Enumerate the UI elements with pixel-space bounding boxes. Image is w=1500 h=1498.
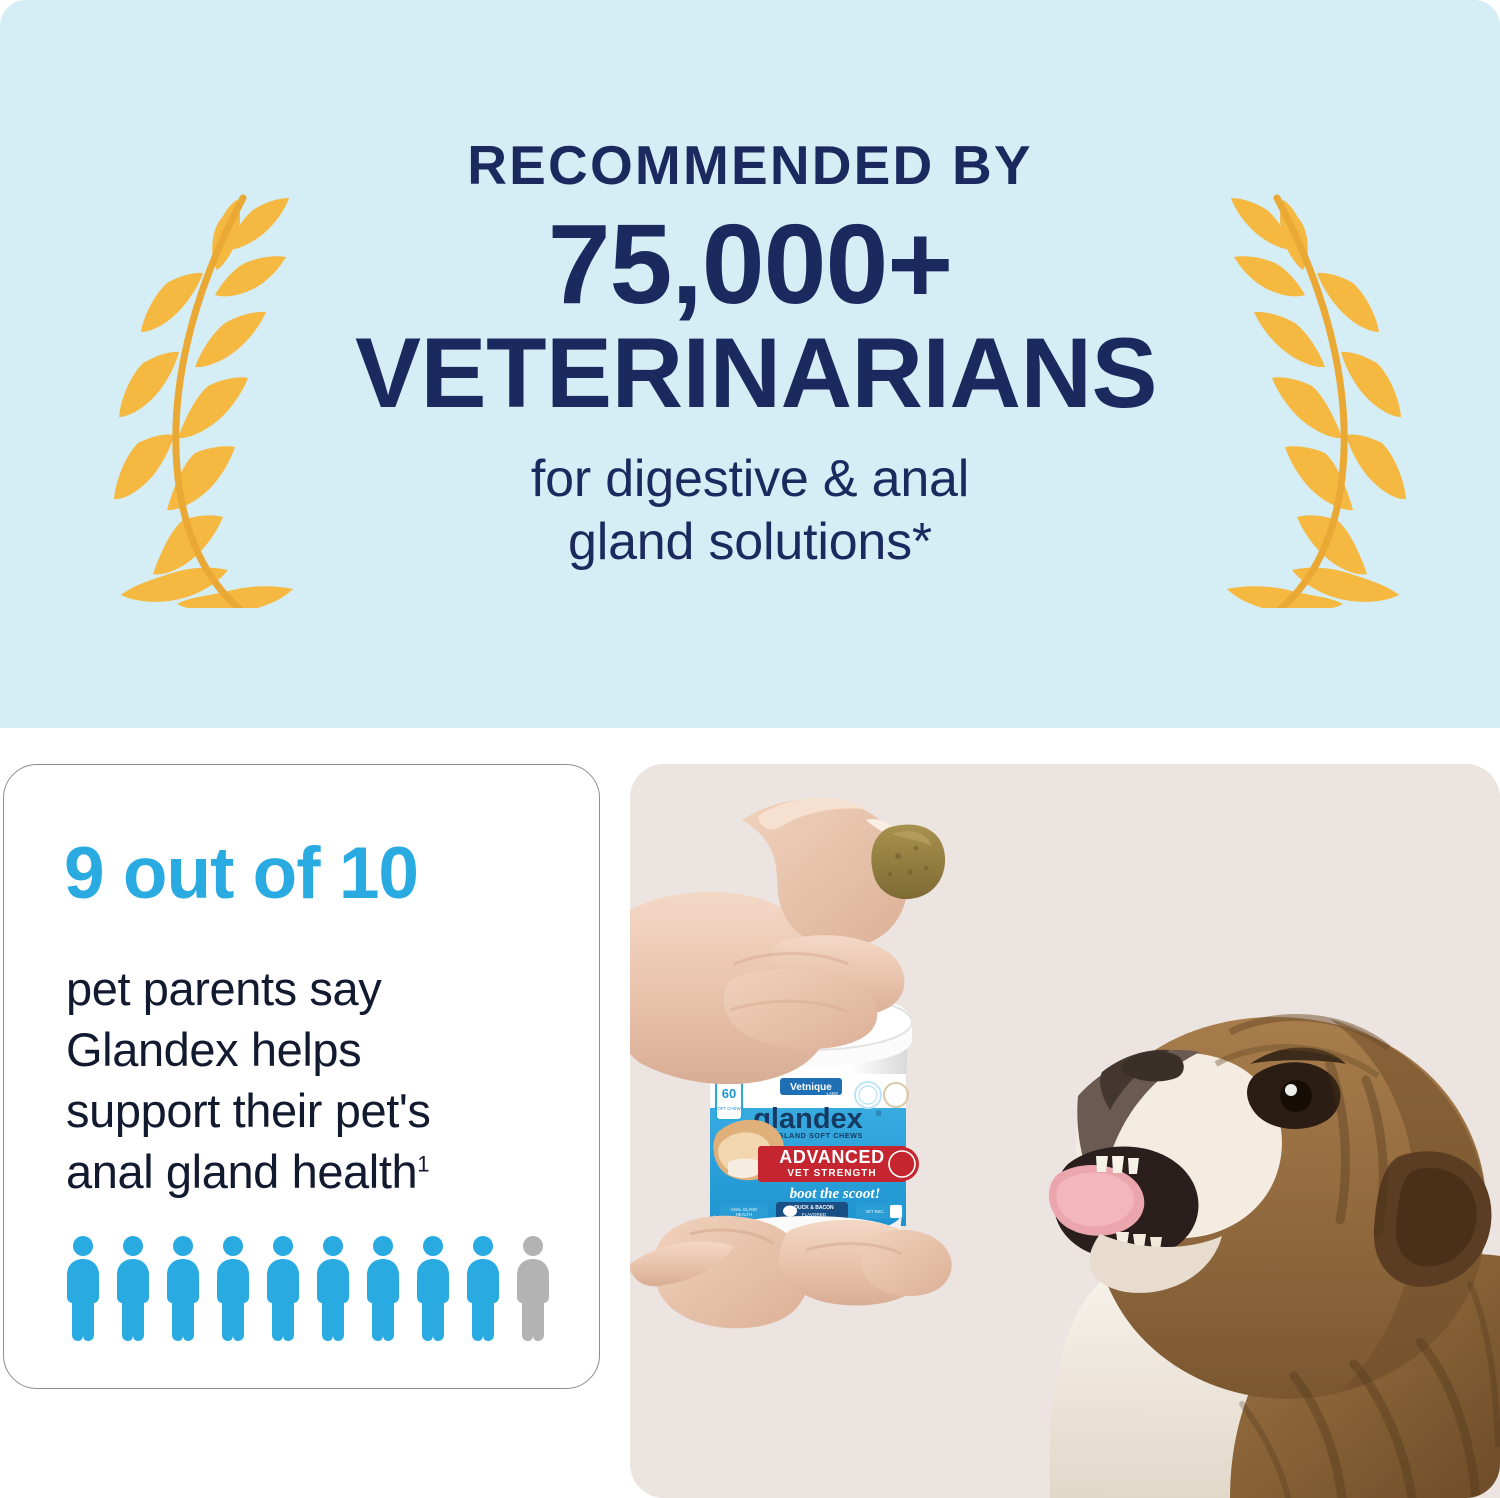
recommended-by-badge-panel: RECOMMENDED BY 75,000+ VETERINARIANS for… [0, 0, 1500, 728]
badge-subline-line2: gland solutions* [568, 513, 932, 571]
svg-text:VET STRENGTH: VET STRENGTH [787, 1168, 876, 1179]
person-icon-filled [412, 1235, 454, 1343]
product-lifestyle-photo-panel: 60 SOFT CHEWS Vetnique LABS glandex ® AN… [630, 764, 1500, 1498]
svg-text:ADVANCED: ADVANCED [779, 1147, 884, 1167]
svg-text:LABS: LABS [826, 1091, 838, 1096]
stat-body-line3: support their pet's [66, 1084, 431, 1137]
stat-body-line2: Glandex helps [66, 1023, 361, 1076]
person-icon-filled [312, 1235, 354, 1343]
stat-headline: 9 out of 10 [64, 837, 418, 910]
people-pictogram-row [62, 1235, 554, 1343]
svg-text:DUCK & BACON: DUCK & BACON [794, 1205, 834, 1211]
badge-big-word: VETERINARIANS [355, 323, 1145, 422]
footnote-marker: 1 [417, 1152, 429, 1177]
person-icon-muted [512, 1235, 554, 1343]
svg-text:VET REC.: VET REC. [865, 1209, 884, 1214]
badge-kicker: RECOMMENDED BY [355, 137, 1145, 195]
stat-body-line4: anal gland health [66, 1145, 417, 1198]
svg-text:®: ® [876, 1110, 882, 1118]
badge-subline-line1: for digestive & anal [531, 450, 969, 508]
svg-text:HEALTH: HEALTH [736, 1212, 752, 1217]
svg-text:boot the scoot!: boot the scoot! [790, 1186, 881, 1202]
badge-subline: for digestive & anal gland solutions* [355, 448, 1145, 573]
svg-text:60: 60 [722, 1086, 736, 1101]
nine-out-of-ten-stat-card: 9 out of 10 pet parents say Glandex help… [3, 764, 600, 1389]
stat-body-line1: pet parents say [66, 962, 381, 1015]
badge-big-number: 75,000+ [355, 208, 1145, 321]
person-icon-filled [212, 1235, 254, 1343]
photo-scene: 60 SOFT CHEWS Vetnique LABS glandex ® AN… [630, 764, 1500, 1498]
person-icon-filled [62, 1235, 104, 1343]
svg-text:SOFT CHEWS: SOFT CHEWS [714, 1106, 743, 1111]
person-icon-filled [362, 1235, 404, 1343]
person-icon-filled [462, 1235, 504, 1343]
person-icon-filled [262, 1235, 304, 1343]
person-icon-filled [112, 1235, 154, 1343]
badge-headline-block: RECOMMENDED BY 75,000+ VETERINARIANS for… [355, 137, 1145, 574]
person-icon-filled [162, 1235, 204, 1343]
stat-body-text: pet parents say Glandex helps support th… [66, 958, 566, 1202]
